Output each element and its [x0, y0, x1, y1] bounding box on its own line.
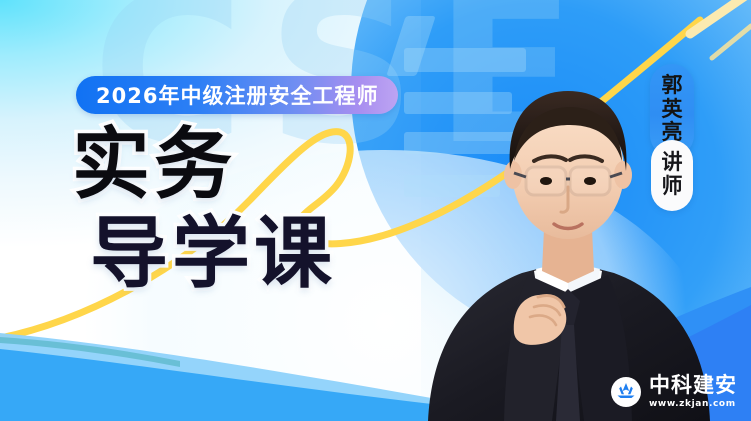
star-mountain-emblem-icon: [611, 377, 641, 407]
title-line-2: 导学课: [90, 217, 336, 292]
brand-url: www.zkjan.com: [649, 400, 736, 409]
brand-logo-text: 中科建安 www.zkjan.com: [649, 375, 737, 409]
course-badge: 2026年中级注册安全工程师: [76, 76, 398, 114]
instructor-name-char-1: 郭: [662, 74, 683, 98]
course-badge-label: 2026年中级注册安全工程师: [96, 80, 378, 110]
instructor-name-char-2: 英: [662, 98, 683, 122]
instructor-role-char-2: 师: [662, 175, 683, 199]
instructor-role-pill: 讲 师: [651, 140, 693, 211]
page-title: 实务 导学课: [72, 128, 336, 292]
brand-name: 中科建安: [649, 375, 737, 396]
instructor-role-char-1: 讲: [662, 151, 683, 175]
title-line-1: 实务: [72, 128, 336, 203]
brand-logo: 中科建安 www.zkjan.com: [611, 375, 737, 409]
course-promo-banner: CSE: [0, 0, 751, 421]
